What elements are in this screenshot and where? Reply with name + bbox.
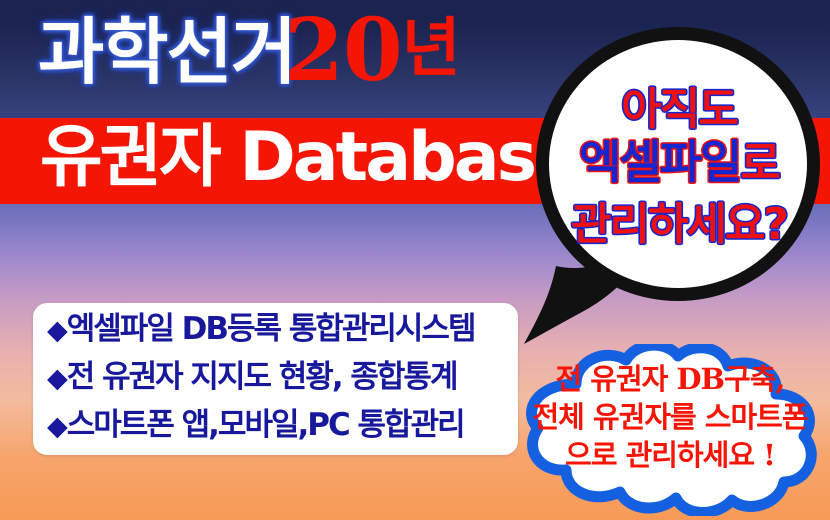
cloud-line-2: 전체 유권자를 스마트폰 bbox=[520, 398, 820, 436]
banner-root: 과학선거 20년 유권자 Database ◆엑셀파일 DB등록 통합관리시스템… bbox=[0, 0, 830, 520]
speech-bubble-text: 아직도 엑셀파일로 관리하세요? bbox=[540, 84, 818, 251]
list-item-label: 스마트폰 앱,모바일,PC 통합관리 bbox=[67, 407, 464, 443]
speech-bubble-line-3: 관리하세요? bbox=[540, 199, 818, 251]
headline-years-number: 20 bbox=[284, 0, 402, 101]
speech-bubble-line-1: 아직도 bbox=[540, 84, 818, 136]
list-item: ◆엑셀파일 DB등록 통합관리시스템 bbox=[47, 306, 517, 354]
subtitle-database: 유권자 Database bbox=[40, 124, 577, 192]
cloud-callout-text: 전 유권자 DB구축, 전체 유권자를 스마트폰 으로 관리하세요 ! bbox=[520, 360, 820, 474]
speech-bubble-line-2-red: 로 bbox=[740, 138, 778, 189]
diamond-bullet-icon: ◆ bbox=[47, 411, 67, 442]
speech-bubble-line-2-blue: 엑셀파일 bbox=[579, 135, 740, 189]
headline-years-unit: 년 bbox=[402, 12, 459, 86]
diamond-bullet-icon: ◆ bbox=[47, 315, 67, 346]
headline-years: 20년 bbox=[284, 8, 459, 94]
feature-bullet-list: ◆엑셀파일 DB등록 통합관리시스템 ◆전 유권자 지지도 현황, 종합통계 ◆… bbox=[47, 306, 517, 450]
list-item-label: 엑셀파일 DB등록 통합관리시스템 bbox=[67, 311, 475, 347]
speech-bubble-line-2: 엑셀파일로 bbox=[540, 136, 818, 199]
list-item-label: 전 유권자 지지도 현황, 종합통계 bbox=[67, 359, 457, 395]
diamond-bullet-icon: ◆ bbox=[47, 363, 67, 394]
cloud-line-1: 전 유권자 DB구축, bbox=[520, 360, 820, 398]
headline-korean: 과학선거 bbox=[38, 16, 295, 88]
list-item: ◆스마트폰 앱,모바일,PC 통합관리 bbox=[47, 402, 517, 450]
cloud-line-3: 으로 관리하세요 ! bbox=[520, 436, 820, 474]
list-item: ◆전 유권자 지지도 현황, 종합통계 bbox=[47, 354, 517, 402]
